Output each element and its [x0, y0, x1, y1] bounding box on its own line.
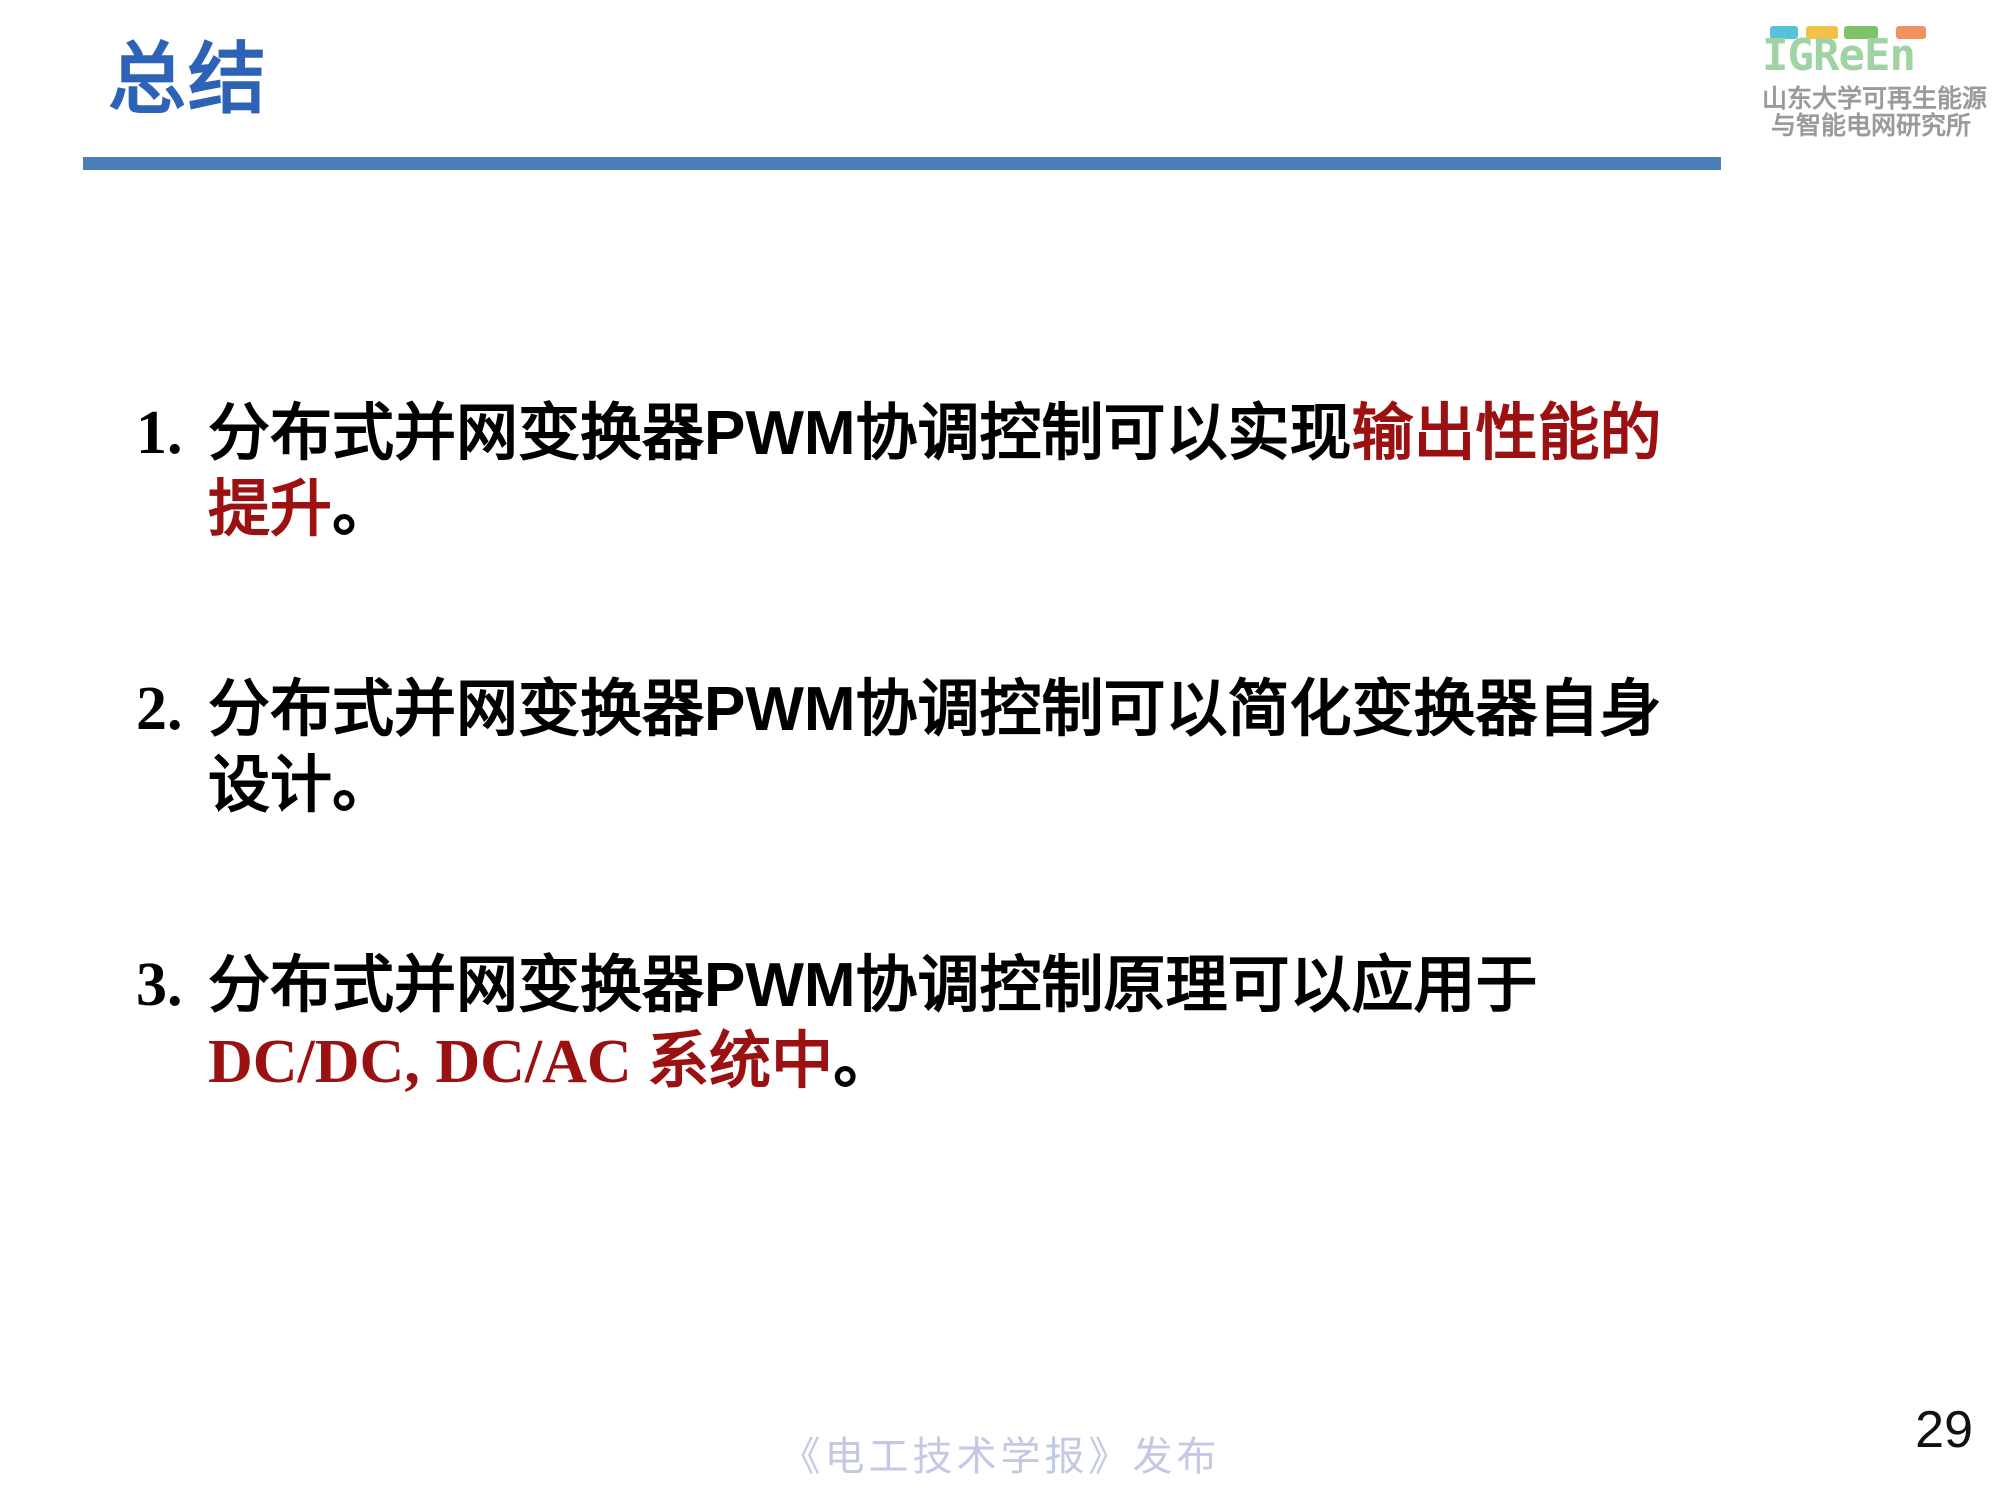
item3-line2-red: 系统中: [647, 1027, 833, 1096]
item2-line2-black: 设计。: [208, 751, 394, 820]
list-item-text: 分布式并网变换器PWM协调控制原理可以应用于 DC/DC, DC/AC 系统中。: [208, 948, 1836, 1100]
slide-root: 总结 IGReEn 山东大学可再生能源 与智能电网研究所 1. 分布式并网变换器…: [0, 0, 2001, 1501]
page-number: 29: [1915, 1404, 1973, 1456]
item3-line1-black: 分布式并网变换器PWM协调控制原理可以应用于: [208, 951, 1538, 1020]
list-item: 3. 分布式并网变换器PWM协调控制原理可以应用于 DC/DC, DC/AC 系…: [136, 948, 1836, 1100]
summary-list: 1. 分布式并网变换器PWM协调控制可以实现输出性能的 提升。 2. 分布式并网…: [0, 0, 2001, 1501]
item1-line2-black: 。: [332, 475, 394, 544]
list-item-number: 1.: [136, 396, 208, 472]
list-item-number: 3.: [136, 948, 208, 1024]
list-item: 2. 分布式并网变换器PWM协调控制可以简化变换器自身 设计。: [136, 672, 1836, 823]
item1-line1-black: 分布式并网变换器PWM协调控制可以实现: [208, 399, 1352, 468]
item3-line2-black: 。: [833, 1027, 895, 1096]
item1-line1-red: 输出性能的: [1352, 399, 1662, 468]
item3-line2-serif-red: DC/DC, DC/AC: [208, 1028, 647, 1096]
list-item: 1. 分布式并网变换器PWM协调控制可以实现输出性能的 提升。: [136, 396, 1836, 547]
list-item-text: 分布式并网变换器PWM协调控制可以实现输出性能的 提升。: [208, 396, 1836, 547]
list-item-number: 2.: [136, 672, 208, 748]
item2-line1-black: 分布式并网变换器PWM协调控制可以简化变换器自身: [208, 675, 1662, 744]
footer-publisher-note: 《电工技术学报》发布: [0, 1437, 2001, 1477]
item1-line2-red: 提升: [208, 475, 332, 544]
list-item-text: 分布式并网变换器PWM协调控制可以简化变换器自身 设计。: [208, 672, 1836, 823]
